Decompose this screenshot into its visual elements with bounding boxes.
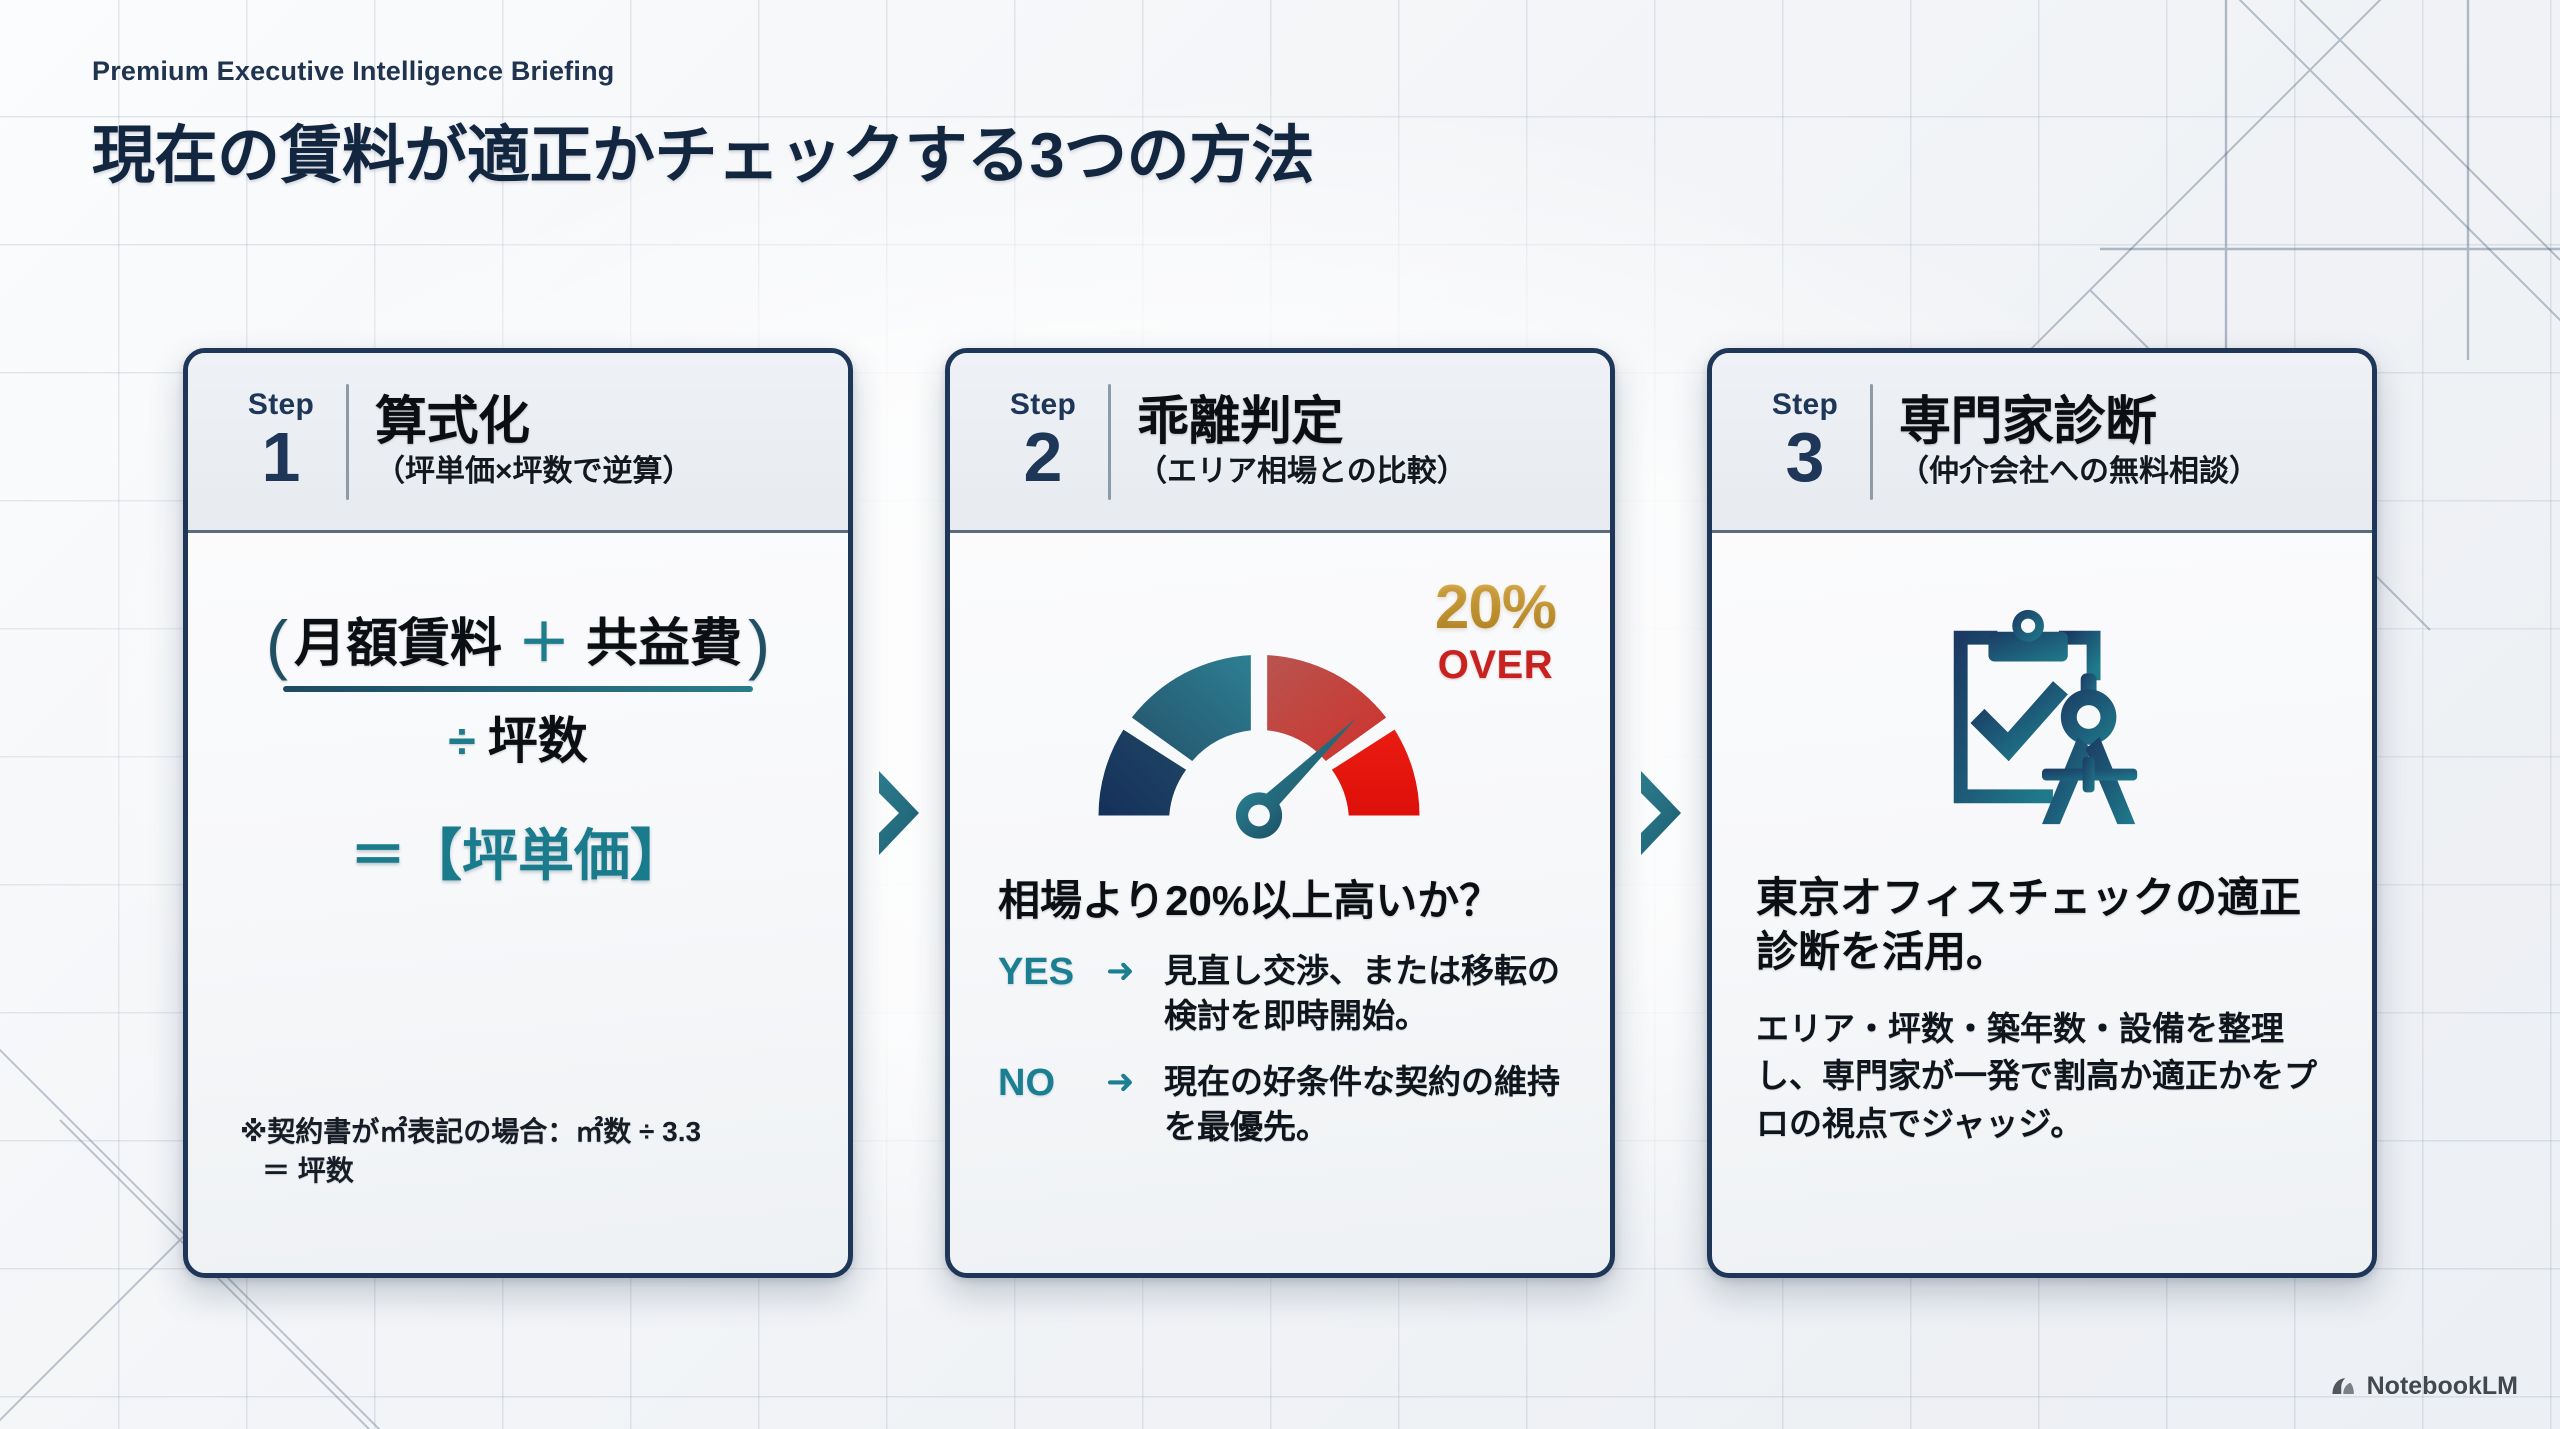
card-title: 専門家診断	[1899, 395, 2259, 450]
card-subtitle: （坪単価×坪数で逆算）	[375, 455, 693, 488]
card-body-2: 20% OVER 相場より20%以上高いか？ YES ➜ 見直し交渉、または移転…	[950, 533, 1610, 1273]
formula-fraction-bar	[283, 686, 753, 692]
step-word-label: Step	[248, 390, 314, 420]
steps-row: Step 1 算式化 （坪単価×坪数で逆算） ( 月額賃料 ＋ 共益費 )	[0, 348, 2560, 1278]
open-paren: (	[266, 615, 288, 674]
arrow-right-icon: ➜	[1106, 949, 1164, 993]
gauge-meter-icon	[1049, 587, 1469, 859]
eyebrow-text: Premium Executive Intelligence Briefing	[92, 56, 1314, 87]
card-header-text-1: 算式化 （坪単価×坪数で逆算）	[375, 395, 693, 489]
card-header-text-2: 乖離判定 （エリア相場との比較）	[1137, 395, 1467, 489]
formula-term-common-fee: 共益費	[586, 616, 742, 673]
card-header-3: Step 3 専門家診断 （仲介会社への無料相談）	[1712, 353, 2372, 533]
arrow-right-icon: ➜	[1106, 1060, 1164, 1104]
step-badge-2: Step 2	[984, 390, 1102, 493]
close-paren: )	[748, 615, 770, 674]
card-header-2: Step 2 乖離判定 （エリア相場との比較）	[950, 353, 1610, 533]
branch-row-yes: YES ➜ 見直し交渉、または移転の検討を即時開始。	[998, 949, 1570, 1038]
step-word-label: Step	[1010, 390, 1076, 420]
page-title: 現在の賃料が適正かチェックする3つの方法	[92, 105, 1314, 196]
notebooklm-logo-icon	[2329, 1373, 2357, 1401]
formula-footnote: ※契約書が㎡表記の場合：㎡数 ÷ 3.3 ＝ 坪数	[240, 1112, 802, 1192]
divide-symbol: ÷	[448, 713, 475, 769]
formula-numerator: ( 月額賃料 ＋ 共益費 )	[228, 615, 808, 674]
step-number: 2	[1024, 422, 1063, 493]
header-divider	[1870, 384, 1873, 500]
branch-key: YES	[998, 949, 1106, 997]
branch-list: YES ➜ 見直し交渉、または移転の検討を即時開始。 NO ➜ 現在の好条件な契…	[990, 949, 1570, 1149]
footnote-line-2: ＝ 坪数	[240, 1151, 802, 1191]
header-divider	[346, 384, 349, 500]
gauge-percent-value: 20%	[1435, 577, 1556, 639]
gauge-badge: 20% OVER	[1435, 577, 1556, 685]
card-body-3: 東京オフィスチェックの適正診断を活用。 エリア・坪数・築年数・設備を整理し、専門…	[1712, 533, 2372, 1273]
step-badge-1: Step 1	[222, 390, 340, 493]
card-3-icon-area	[1752, 567, 2332, 867]
card-header-1: Step 1 算式化 （坪単価×坪数で逆算）	[188, 353, 848, 533]
formula-block: ( 月額賃料 ＋ 共益費 ) ÷坪数 ＝【坪単価】	[228, 615, 808, 887]
chevron-right-icon	[873, 767, 925, 859]
page-header: Premium Executive Intelligence Briefing …	[92, 56, 1314, 196]
step-badge-3: Step 3	[1746, 390, 1864, 493]
equals-symbol: ＝	[350, 824, 406, 887]
branch-row-no: NO ➜ 現在の好条件な契約の維持を最優先。	[998, 1060, 1570, 1149]
formula-plus-symbol: ＋	[518, 616, 570, 673]
branch-text: 見直し交渉、または移転の検討を即時開始。	[1164, 949, 1570, 1038]
step-card-1[interactable]: Step 1 算式化 （坪単価×坪数で逆算） ( 月額賃料 ＋ 共益費 )	[183, 348, 853, 1278]
card-body-1: ( 月額賃料 ＋ 共益費 ) ÷坪数 ＝【坪単価】 ※契約書が㎡表記の場合：㎡数…	[188, 533, 848, 1273]
header-divider	[1108, 384, 1111, 500]
branch-text: 現在の好条件な契約の維持を最優先。	[1164, 1060, 1570, 1149]
connector-1	[853, 348, 945, 1278]
card-3-lead-text: 東京オフィスチェックの適正診断を活用。	[1752, 871, 2332, 979]
formula-denominator: ÷坪数	[228, 714, 808, 769]
card-header-text-3: 専門家診断 （仲介会社への無料相談）	[1899, 395, 2259, 489]
formula-term-tsubo: 坪数	[488, 713, 588, 769]
step-card-3[interactable]: Step 3 専門家診断 （仲介会社への無料相談）	[1707, 348, 2377, 1278]
footnote-line-1: ※契約書が㎡表記の場合：㎡数 ÷ 3.3	[240, 1116, 701, 1147]
branch-key: NO	[998, 1060, 1106, 1108]
card-subtitle: （エリア相場との比較）	[1137, 455, 1467, 488]
card-title: 算式化	[375, 395, 693, 450]
step-word-label: Step	[1772, 390, 1838, 420]
gauge-question: 相場より20%以上高いか？	[990, 877, 1570, 925]
card-title: 乖離判定	[1137, 395, 1467, 450]
gauge-over-label: OVER	[1435, 645, 1556, 685]
step-card-2[interactable]: Step 2 乖離判定 （エリア相場との比較）	[945, 348, 1615, 1278]
card-3-body-text: エリア・坪数・築年数・設備を整理し、専門家が一発で割高か適正かをプロの視点でジャ…	[1752, 1005, 2332, 1149]
clipboard-check-compass-icon	[1923, 598, 2161, 836]
formula-result-label: 【坪単価】	[406, 824, 686, 887]
card-subtitle: （仲介会社への無料相談）	[1899, 455, 2259, 488]
connector-2	[1615, 348, 1707, 1278]
notebooklm-watermark: NotebookLM	[2329, 1372, 2518, 1401]
step-number: 1	[262, 422, 301, 493]
gauge-area: 20% OVER	[990, 573, 1570, 873]
formula-result: ＝【坪単価】	[228, 825, 808, 887]
watermark-label: NotebookLM	[2367, 1372, 2518, 1401]
formula-term-rent: 月額賃料	[294, 616, 502, 673]
step-number: 3	[1786, 422, 1825, 493]
chevron-right-icon	[1635, 767, 1687, 859]
